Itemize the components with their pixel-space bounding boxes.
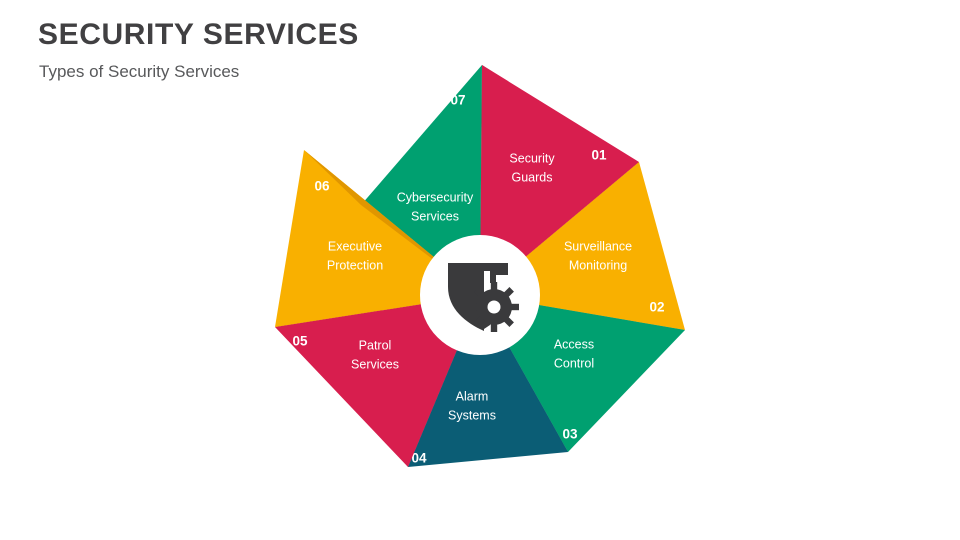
segment-02-label-line2: Monitoring — [569, 258, 627, 272]
segment-03-label-line2: Control — [554, 356, 594, 370]
segment-03-label-line1: Access — [554, 337, 594, 351]
segment-06-number: 06 — [314, 179, 330, 194]
segment-07-label-line1: Cybersecurity — [397, 190, 474, 204]
segment-03-number: 03 — [562, 427, 578, 442]
segment-01-label-line2: Guards — [512, 170, 553, 184]
segment-04-label-line2: Systems — [448, 408, 496, 422]
segment-07-number: 07 — [450, 93, 465, 108]
segment-02-label-line1: Surveillance — [564, 239, 632, 253]
segment-01-label-line1: Security — [509, 151, 555, 165]
security-services-star-diagram: Cybersecurity Services 07 Security Guard… — [230, 45, 730, 515]
segment-05-label-line1: Patrol — [359, 338, 392, 352]
segment-06-label-line2: Protection — [327, 258, 383, 272]
segment-02-number: 02 — [649, 300, 664, 315]
segment-05-label-line2: Services — [351, 357, 399, 371]
segment-01-number: 01 — [591, 148, 607, 163]
page-subtitle: Types of Security Services — [39, 62, 239, 82]
segment-05-number: 05 — [292, 334, 308, 349]
center-hub — [420, 235, 540, 355]
segment-04-label-line1: Alarm — [456, 389, 489, 403]
segment-07-label-line2: Services — [411, 209, 459, 223]
segment-06-label-line1: Executive — [328, 239, 382, 253]
